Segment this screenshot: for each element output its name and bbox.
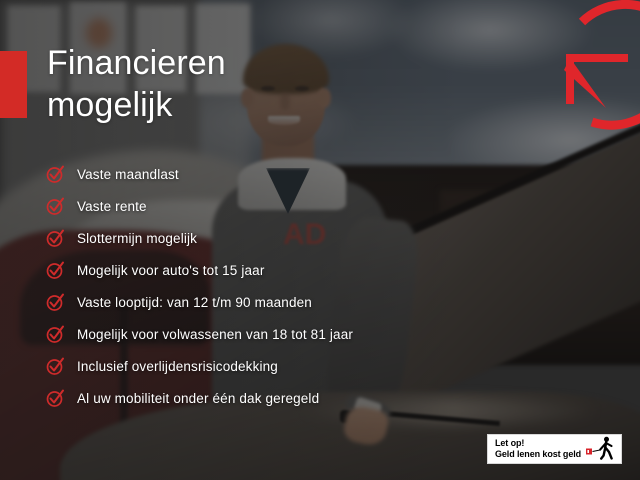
list-item-label: Mogelijk voor auto's tot 15 jaar [77,263,264,278]
afm-warning-badge: Let op! Geld lenen kost geld [487,434,622,464]
list-item-label: Mogelijk voor volwassenen van 18 tot 81 … [77,327,353,342]
check-circle-icon [45,228,65,248]
check-circle-icon [45,324,65,344]
list-item: Mogelijk voor auto's tot 15 jaar [45,254,465,286]
list-item: Vaste maandlast [45,158,465,190]
feature-list: Vaste maandlast Vaste rente Slottermijn … [45,158,465,414]
check-circle-icon [45,164,65,184]
red-circular-arrow-mark [554,0,640,130]
check-circle-icon [45,356,65,376]
walking-person-dragging-block-icon [586,436,616,460]
list-item: Vaste looptijd: van 12 t/m 90 maanden [45,286,465,318]
financing-promo-banner: AD Financieren mogelijk [0,0,640,480]
list-item-label: Slottermijn mogelijk [77,231,197,246]
list-item: Mogelijk voor volwassenen van 18 tot 81 … [45,318,465,350]
list-item-label: Vaste maandlast [77,167,179,182]
check-circle-icon [45,260,65,280]
check-circle-icon [45,388,65,408]
page-title: Financieren mogelijk [47,42,226,126]
check-circle-icon [45,196,65,216]
list-item: Vaste rente [45,190,465,222]
list-item: Inclusief overlijdensrisicodekking [45,350,465,382]
red-accent-block [0,51,27,118]
list-item-label: Vaste rente [77,199,147,214]
list-item-label: Vaste looptijd: van 12 t/m 90 maanden [77,295,312,310]
list-item-label: Al uw mobiliteit onder één dak geregeld [77,391,319,406]
list-item: Slottermijn mogelijk [45,222,465,254]
list-item-label: Inclusief overlijdensrisicodekking [77,359,278,374]
afm-warning-text: Let op! Geld lenen kost geld [495,438,581,460]
list-item: Al uw mobiliteit onder één dak geregeld [45,382,465,414]
check-circle-icon [45,292,65,312]
